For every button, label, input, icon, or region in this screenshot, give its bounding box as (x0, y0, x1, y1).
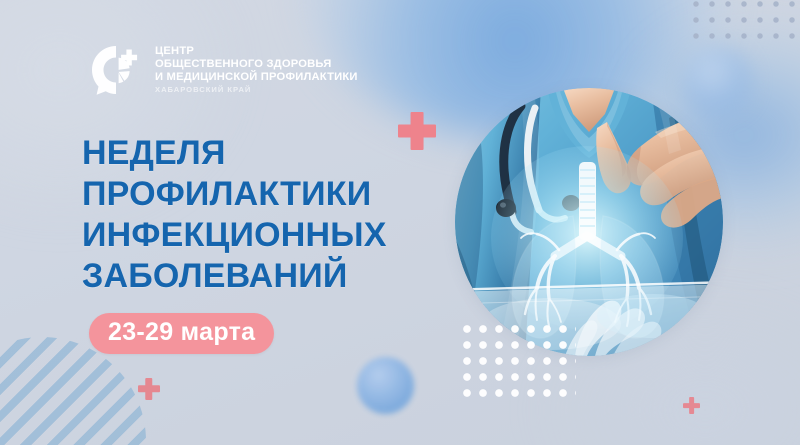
organization-logo-text: ЦЕНТР ОБЩЕСТВЕННОГО ЗДОРОВЬЯ И МЕДИЦИНСК… (155, 45, 358, 95)
medical-cross-icon-small-left (138, 378, 160, 400)
headline-line-2: ПРОФИЛАКТИКИ (82, 174, 412, 215)
dot-grid-top-right-decoration (686, 0, 798, 44)
poster-headline: НЕДЕЛЯ ПРОФИЛАКТИКИ ИНФЕКЦИОННЫХ ЗАБОЛЕВ… (82, 133, 412, 298)
medical-cross-icon-small-right (683, 397, 700, 414)
logo-line-1: ЦЕНТР (155, 45, 358, 58)
date-range-badge: 23-29 марта (89, 313, 274, 354)
sphere-top-right-decoration (683, 47, 753, 117)
organization-logo: ЦЕНТР ОБЩЕСТВЕННОГО ЗДОРОВЬЯ И МЕДИЦИНСК… (88, 42, 358, 98)
headline-line-1: НЕДЕЛЯ (82, 133, 412, 174)
headline-line-3: ИНФЕКЦИОННЫХ (82, 215, 412, 256)
logo-line-3: И МЕДИЦИНСКОЙ ПРОФИЛАКТИКИ (155, 71, 358, 84)
poster-canvas: ЦЕНТР ОБЩЕСТВЕННОГО ЗДОРОВЬЯ И МЕДИЦИНСК… (0, 0, 800, 445)
logo-region-label: ХАБАРОВСКИЙ КРАЙ (155, 86, 358, 95)
c-plus-logo-icon (88, 42, 144, 98)
headline-line-4: ЗАБОЛЕВАНИЙ (82, 256, 412, 297)
dot-grid-photo-decoration (456, 318, 576, 398)
logo-line-2: ОБЩЕСТВЕННОГО ЗДОРОВЬЯ (155, 58, 358, 71)
doctor-lungs-photo: Врач в голубом хирургическом костюме со … (455, 88, 723, 356)
medical-cross-icon-large (398, 112, 436, 150)
sphere-center-decoration (357, 357, 414, 414)
